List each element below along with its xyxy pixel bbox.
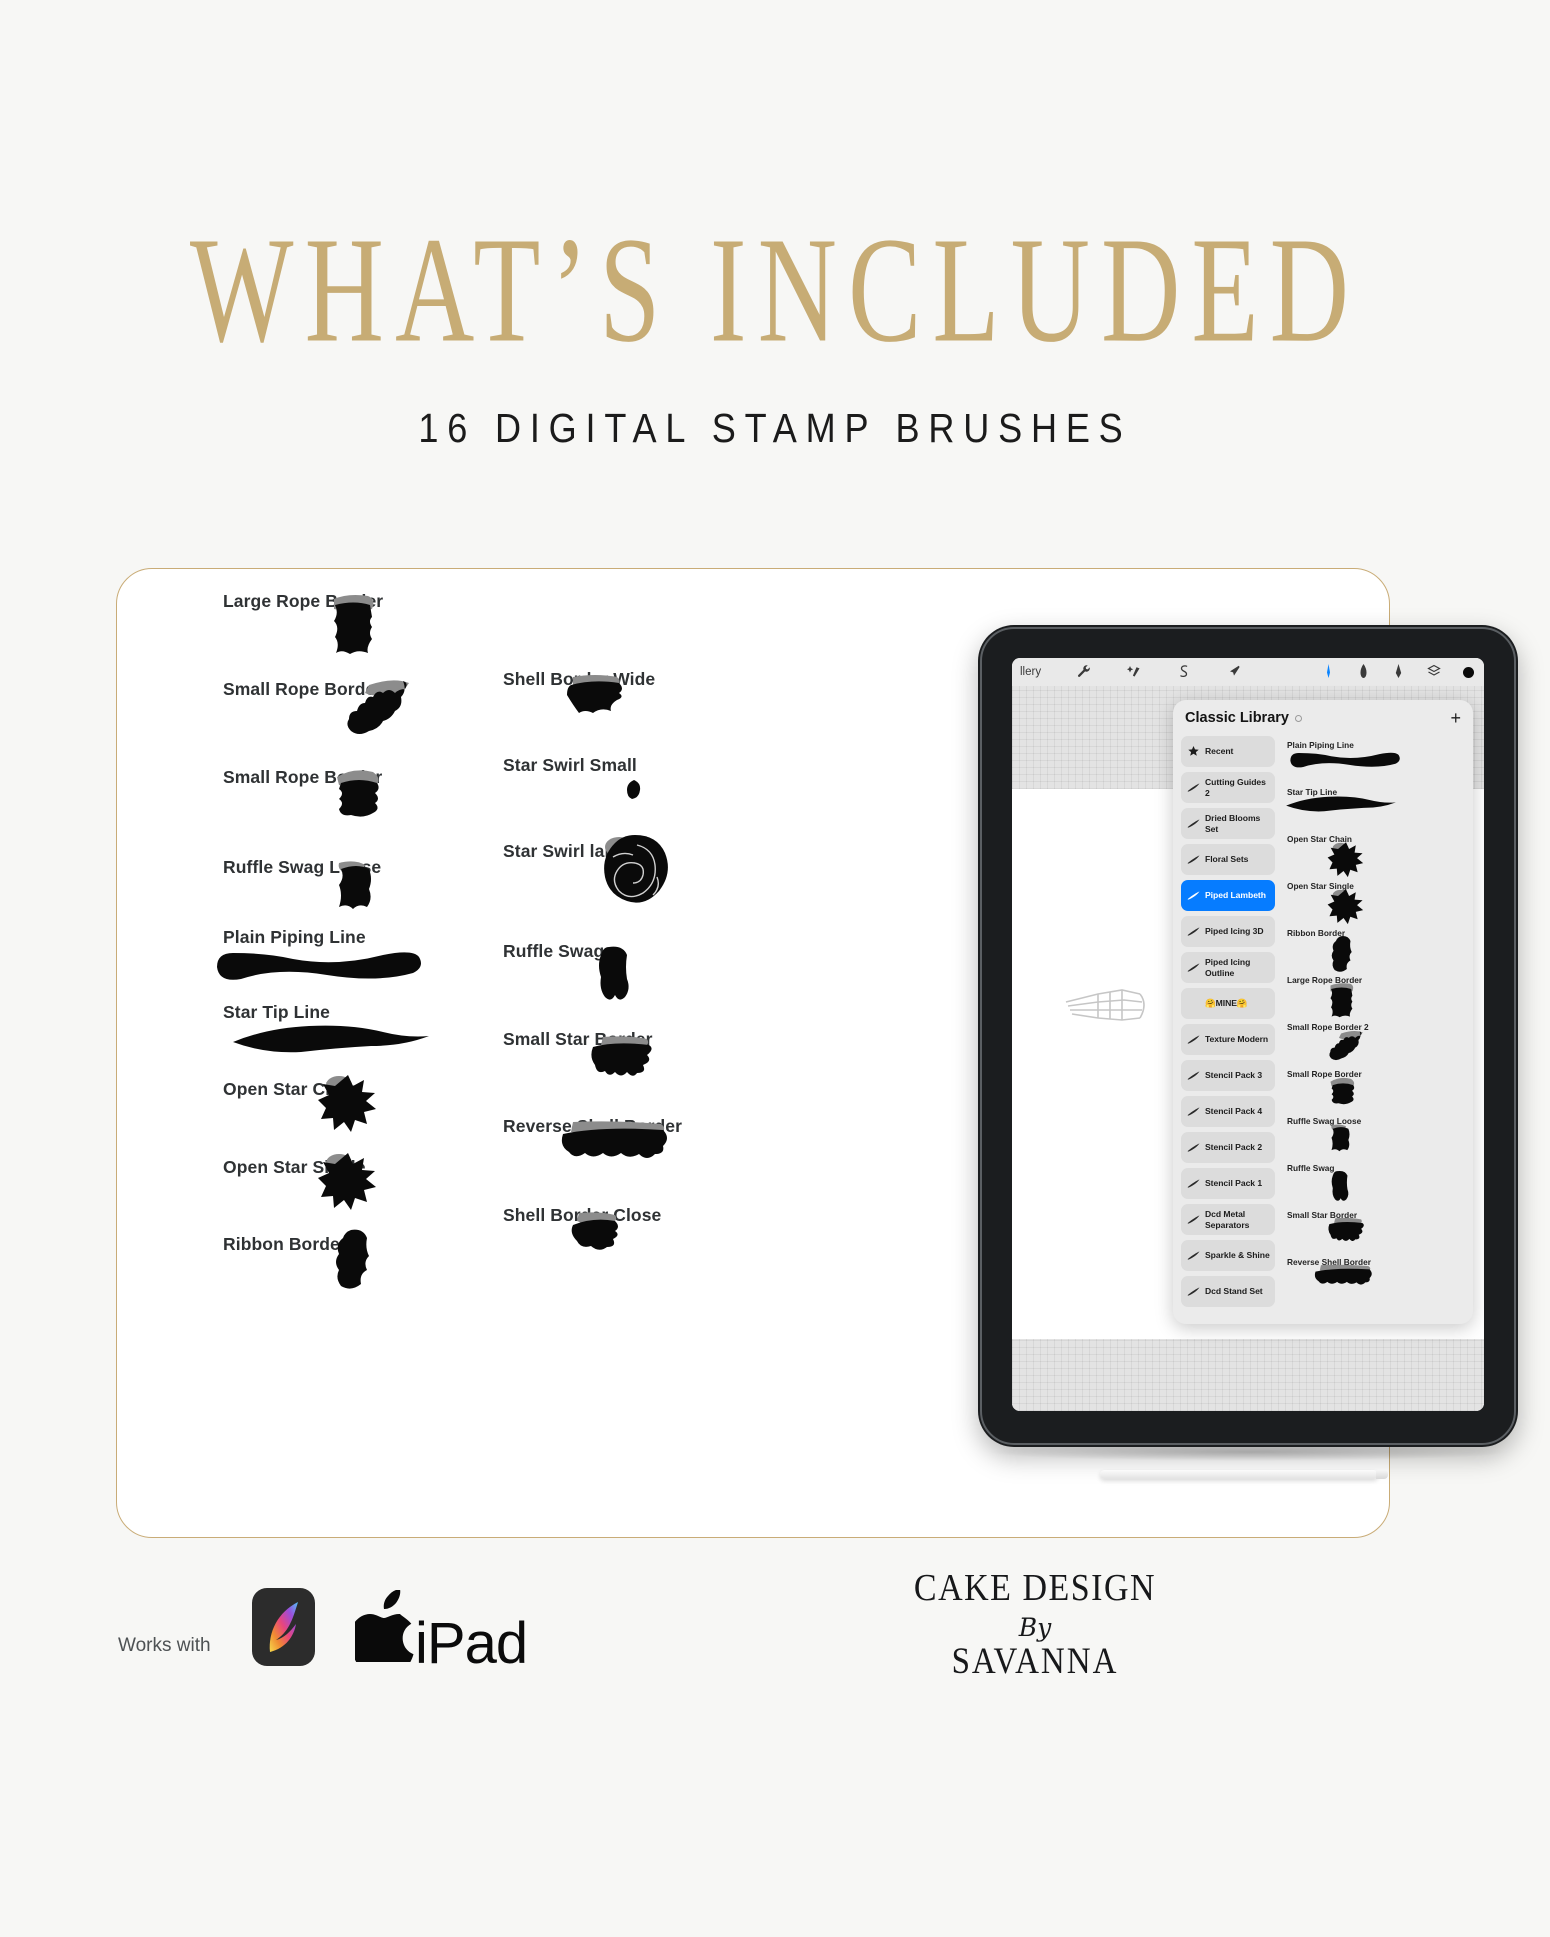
ruffle-loose-stamp [331, 859, 379, 919]
brush-set-label: Dried Blooms Set [1205, 813, 1270, 833]
brush-set-label: Stencil Pack 1 [1205, 1178, 1262, 1188]
brush-set-item[interactable]: Recent [1181, 736, 1275, 767]
brush-icon [1186, 819, 1200, 828]
brush-library-header: Classic Library + [1173, 700, 1473, 736]
open-star-single-stamp [317, 1151, 379, 1213]
brand-logo: CAKE DESIGN By SAVANNA [820, 1570, 1250, 1681]
color-swatch[interactable] [1463, 667, 1474, 678]
brush-list-item[interactable]: Ruffle Swag [1285, 1163, 1465, 1209]
brush-list-item[interactable]: Star Tip Line [1285, 787, 1465, 833]
brush-set-item[interactable]: Piped Icing 3D [1181, 916, 1275, 947]
page-footer: Works with iPad CAKE DESIGN By SAVANNA [0, 1560, 1550, 1740]
brush-set-item[interactable]: Texture Modern [1181, 1024, 1275, 1055]
brush-list-item[interactable]: Small Rope Border [1285, 1069, 1465, 1115]
adjustments-icon[interactable] [1127, 664, 1141, 681]
brush-set-item[interactable]: Piped Lambeth [1181, 880, 1275, 911]
page-header: WHAT’S INCLUDED 16 DIGITAL STAMP BRUSHES [0, 0, 1550, 452]
shell-border-close-stamp [569, 1211, 625, 1255]
brush-icon [1186, 1179, 1200, 1188]
open-star-chain-stamp [317, 1073, 379, 1135]
shell-wide-stamp [565, 673, 627, 719]
brush-icon [1186, 1071, 1200, 1080]
procreate-logo [252, 1588, 315, 1666]
brand-line-by: By [820, 1613, 1250, 1642]
brush-icon [1186, 891, 1200, 900]
selection-icon[interactable] [1177, 664, 1191, 681]
brand-line-1: CAKE DESIGN [820, 1568, 1250, 1611]
brush-list-item[interactable]: Ribbon Border [1285, 928, 1465, 974]
brush-list-item[interactable]: Open Star Chain [1285, 834, 1465, 880]
star-swirl-large-stamp [601, 833, 673, 907]
brush-set-item[interactable]: 🤗MINE🤗 [1181, 988, 1275, 1019]
brush-set-label: Piped Icing Outline [1205, 957, 1270, 977]
brush-icon [1186, 1035, 1200, 1044]
brush-set-label: Dcd Metal Separators [1205, 1209, 1270, 1229]
brush-icon [1186, 1215, 1200, 1224]
reverse-shell-border-stamp [551, 1120, 673, 1168]
rope-small-stamp [1327, 1076, 1359, 1109]
brush-set-item[interactable]: Stencil Pack 1 [1181, 1168, 1275, 1199]
wrench-icon[interactable] [1077, 664, 1091, 681]
ipad-screen[interactable]: llery [1012, 658, 1484, 1411]
brush-set-item[interactable]: Cutting Guides 2 [1181, 772, 1275, 803]
brush-set-label: Floral Sets [1205, 854, 1248, 864]
ipad-wordmark: iPad [415, 1610, 527, 1677]
gallery-button[interactable]: llery [1020, 666, 1041, 678]
brush-set-item[interactable]: Stencil Pack 4 [1181, 1096, 1275, 1127]
brush-icon [1186, 963, 1200, 972]
brush-library-body: RecentCutting Guides 2Dried Blooms SetFl… [1173, 736, 1473, 1324]
page-title: WHAT’S INCLUDED [54, 215, 1496, 366]
brush-set-label: Stencil Pack 3 [1205, 1070, 1262, 1080]
ruffle-swag-stamp [1327, 1170, 1351, 1205]
brush-set-label: Sparkle & Shine [1205, 1250, 1270, 1260]
ruffle-loose-stamp [1327, 1123, 1354, 1157]
works-with-label: Works with [118, 1635, 211, 1657]
brush-set-label: Stencil Pack 4 [1205, 1106, 1262, 1116]
brush-set-label: 🤗MINE🤗 [1205, 998, 1248, 1008]
brush-set-item[interactable]: Floral Sets [1181, 844, 1275, 875]
small-star-border-stamp [589, 1035, 657, 1079]
brush-list-item[interactable]: Ruffle Swag Loose [1285, 1116, 1465, 1162]
procreate-toolbar[interactable]: llery [1012, 658, 1484, 686]
brush-set-list[interactable]: RecentCutting Guides 2Dried Blooms SetFl… [1173, 736, 1281, 1324]
rope-large-stamp [1327, 982, 1357, 1019]
brush-set-label: Stencil Pack 2 [1205, 1142, 1262, 1152]
brush-list-item[interactable]: Large Rope Border [1285, 975, 1465, 1021]
brush-icon [1186, 1287, 1200, 1296]
brush-set-item[interactable]: Sparkle & Shine [1181, 1240, 1275, 1271]
brush-sample-label: Ruffle Swag [503, 941, 604, 962]
add-brush-set-button[interactable]: + [1450, 709, 1461, 727]
ribbon-stamp [1327, 935, 1357, 975]
star-tip-line-stamp [1285, 794, 1397, 814]
brush-icon [1186, 1107, 1200, 1116]
brush-list[interactable]: Plain Piping LineStar Tip LineOpen Star … [1281, 736, 1473, 1324]
star-icon [1186, 746, 1200, 757]
piping-line-stamp [1285, 747, 1403, 773]
apple-logo [355, 1590, 417, 1662]
hand-sketch [1064, 978, 1150, 1031]
page-subtitle: 16 DIGITAL STAMP BRUSHES [93, 405, 1457, 452]
reverse-shell-stamp [1309, 1264, 1375, 1290]
star-tip-line-stamp [231, 1022, 431, 1056]
brush-list-item[interactable]: Small Rope Border 2 [1285, 1022, 1465, 1068]
brush-set-label: Dcd Stand Set [1205, 1286, 1263, 1296]
brush-set-label: Cutting Guides 2 [1205, 777, 1270, 797]
brand-line-2: SAVANNA [820, 1642, 1250, 1683]
brush-set-item[interactable]: Dried Blooms Set [1181, 808, 1275, 839]
brush-sample-label: Star Tip Line [223, 1002, 330, 1023]
brush-icon[interactable] [1322, 664, 1335, 681]
open-star-stamp [1327, 841, 1365, 879]
apple-pencil [1100, 1470, 1378, 1479]
smudge-icon[interactable] [1357, 664, 1370, 681]
ruffle-swag-stamp [591, 945, 633, 1007]
brush-library-panel[interactable]: Classic Library + RecentCutting Guides 2… [1173, 700, 1473, 1324]
brush-icon [1186, 927, 1200, 936]
procreate-toolbar-right[interactable] [1322, 664, 1484, 681]
open-star-stamp [1327, 888, 1365, 926]
piping-line-stamp [207, 945, 427, 987]
star-swirl-small-stamp [625, 779, 643, 801]
brush-set-label: Recent [1205, 746, 1233, 756]
rope-small-stamp [331, 767, 387, 825]
brush-list-item[interactable]: Small Star Border [1285, 1210, 1465, 1256]
brush-list-item[interactable]: Reverse Shell Border [1285, 1257, 1465, 1303]
circle-icon [1295, 715, 1302, 722]
brush-set-item[interactable]: Piped Icing Outline [1181, 952, 1275, 983]
canvas-grid-bottom [1012, 1339, 1484, 1411]
rope-small-2-stamp [1327, 1029, 1365, 1063]
brush-icon [1186, 1251, 1200, 1260]
brush-set-item[interactable]: Stencil Pack 2 [1181, 1132, 1275, 1163]
layers-icon[interactable] [1427, 664, 1441, 681]
eraser-icon[interactable] [1392, 664, 1405, 681]
small-star-border-stamp [1327, 1217, 1367, 1243]
rope-large-stamp [328, 593, 380, 657]
ribbon-border-stamp [329, 1228, 377, 1294]
brush-library-title: Classic Library [1185, 710, 1289, 726]
brush-icon [1186, 855, 1200, 864]
brush-icon [1186, 1143, 1200, 1152]
brush-list-item[interactable]: Open Star Single [1285, 881, 1465, 927]
brush-set-item[interactable]: Dcd Stand Set [1181, 1276, 1275, 1307]
brush-set-item[interactable]: Stencil Pack 3 [1181, 1060, 1275, 1091]
brush-set-item[interactable]: Dcd Metal Separators [1181, 1204, 1275, 1235]
brush-sample-label: Star Swirl Small [503, 755, 637, 776]
brush-icon [1186, 783, 1200, 792]
brush-set-label: Piped Lambeth [1205, 890, 1266, 900]
brush-set-label: Texture Modern [1205, 1034, 1268, 1044]
ipad-mockup: llery [978, 625, 1518, 1447]
brush-list-item[interactable]: Plain Piping Line [1285, 740, 1465, 786]
rope-small-2-stamp [343, 677, 413, 739]
brush-set-label: Piped Icing 3D [1205, 926, 1264, 936]
transform-icon[interactable] [1227, 664, 1241, 681]
